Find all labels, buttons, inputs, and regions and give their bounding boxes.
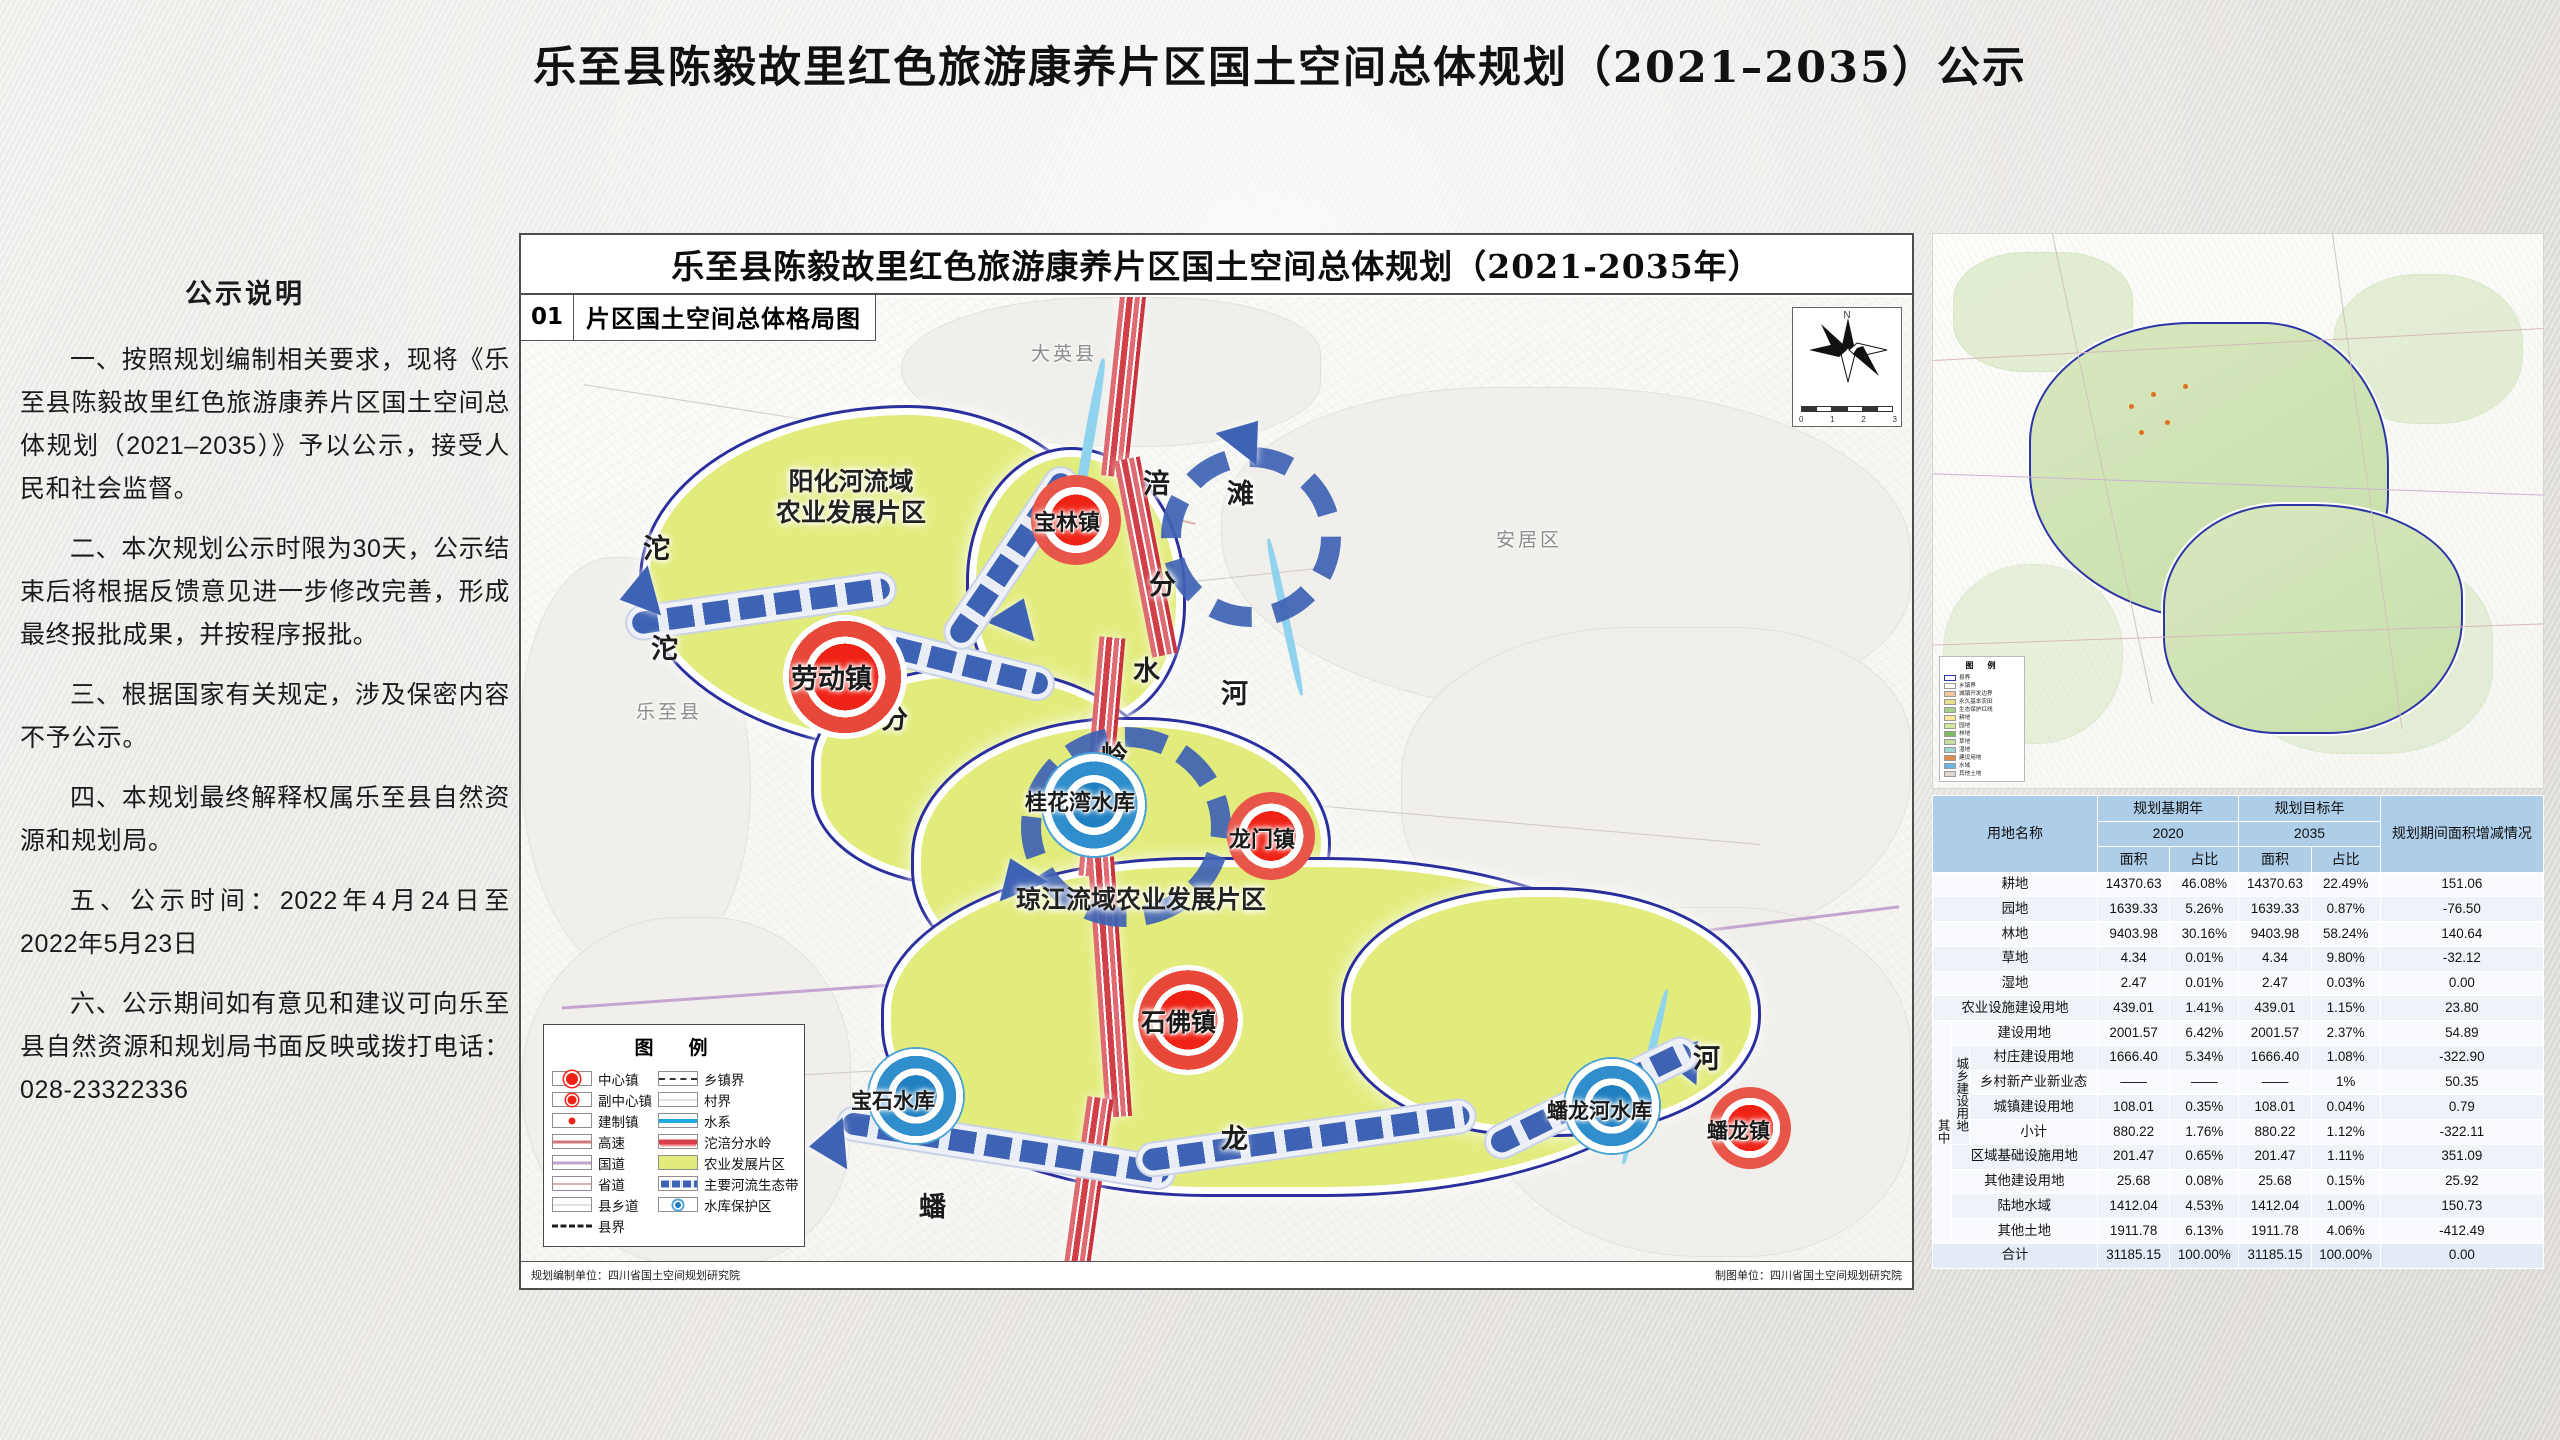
cell-ratio-2035: 2.37% bbox=[2311, 1021, 2380, 1046]
cell-delta: -322.90 bbox=[2380, 1045, 2543, 1070]
table-head: 用地名称 规划基期年 规划目标年 规划期间面积增减情况 2020 2035 面积… bbox=[1933, 796, 2544, 873]
watermark-char-shui: 水 bbox=[1133, 649, 1160, 688]
town-label-panlong: 蟠龙镇 bbox=[1707, 1115, 1770, 1145]
legend-label: 高速 bbox=[598, 1132, 625, 1152]
legend-item-expressway: 高速 bbox=[552, 1131, 652, 1152]
legend-label: 乡镇界 bbox=[704, 1069, 745, 1089]
scale-numbers: 0 1 2 3 bbox=[1799, 415, 1897, 424]
table-row-total: 合计 31185.15 100.00% 31185.15 100.00% 0.0… bbox=[1933, 1243, 2544, 1268]
cell-delta: 50.35 bbox=[2380, 1070, 2543, 1095]
cell-ratio-2020: 0.65% bbox=[2170, 1144, 2239, 1169]
table-row: 林地 9403.98 30.16% 9403.98 58.24% 140.64 bbox=[1933, 922, 2544, 947]
cell-ratio-2035: 0.15% bbox=[2311, 1169, 2380, 1194]
cell-area-2035: 1911.78 bbox=[2239, 1219, 2311, 1244]
cell-area-2035: 880.22 bbox=[2239, 1120, 2311, 1145]
table-row: 乡村新产业新业态 —— —— —— 1% 50.35 bbox=[1933, 1070, 2544, 1095]
row-name: 农业设施建设用地 bbox=[1933, 996, 2098, 1021]
cell-delta: 150.73 bbox=[2380, 1194, 2543, 1219]
watermark-char-he: 河 bbox=[1221, 672, 1248, 711]
cell-ratio-2020: 0.35% bbox=[2170, 1095, 2239, 1120]
cell-area-2035: 108.01 bbox=[2239, 1095, 2311, 1120]
cell-area-2035: 2.47 bbox=[2239, 971, 2311, 996]
table-row: 农业设施建设用地 439.01 1.41% 439.01 1.15% 23.80 bbox=[1933, 996, 2544, 1021]
legend-label: 省道 bbox=[598, 1174, 625, 1194]
cell-area-2020: 2.47 bbox=[2097, 971, 2169, 996]
index-legend-item: 乡镇界 bbox=[1944, 682, 2020, 690]
cell-area-2020: 4.34 bbox=[2097, 946, 2169, 971]
legend-item-county-road: 县乡道 bbox=[552, 1194, 652, 1215]
row-name: 小计 bbox=[1970, 1120, 2098, 1145]
cell-area-2020: 1911.78 bbox=[2097, 1219, 2169, 1244]
legend-item-watershed-divide: 沱涪分水岭 bbox=[658, 1131, 799, 1152]
cell-ratio-2020: 1.76% bbox=[2170, 1120, 2239, 1145]
index-legend-item: 耕地 bbox=[1944, 714, 2020, 722]
cell-area-2020: 1412.04 bbox=[2097, 1194, 2169, 1219]
header-area-2020: 面积 bbox=[2097, 847, 2169, 873]
cell-area-2020: 25.68 bbox=[2097, 1169, 2169, 1194]
cell-ratio-2020: —— bbox=[2170, 1070, 2239, 1095]
table-row: 城乡建设用地 村庄建设用地 1666.40 5.34% 1666.40 1.08… bbox=[1933, 1045, 2544, 1070]
map-footer: 规划编制单位：四川省国土空间规划研究院 制图单位：四川省国土空间规划研究院 bbox=[521, 1261, 1912, 1288]
legend-label: 水库保护区 bbox=[704, 1195, 772, 1215]
index-legend-item: 其他土地 bbox=[1944, 770, 2020, 778]
cell-delta: 54.89 bbox=[2380, 1021, 2543, 1046]
cell-ratio-2020: 5.26% bbox=[2170, 897, 2239, 922]
scale-tick-0: 0 bbox=[1799, 415, 1803, 424]
row-name: 耕地 bbox=[1933, 872, 2098, 897]
provincial-road-line-icon bbox=[552, 1176, 592, 1191]
row-name: 草地 bbox=[1933, 946, 2098, 971]
land-use-statistics-table: 用地名称 规划基期年 规划目标年 规划期间面积增减情况 2020 2035 面积… bbox=[1932, 795, 2544, 1269]
reservoir-label-baoshi: 宝石水库 bbox=[851, 1085, 935, 1115]
cell-delta: -322.11 bbox=[2380, 1120, 2543, 1145]
table-body: 耕地 14370.63 46.08% 14370.63 22.49% 151.0… bbox=[1933, 872, 2544, 1268]
legend-item-agriculture-zone: 农业发展片区 bbox=[658, 1152, 799, 1173]
cell-delta: 25.92 bbox=[2380, 1169, 2543, 1194]
header-ratio-2020: 占比 bbox=[2170, 847, 2239, 873]
notice-paragraph-6: 六、公示期间如有意见和建议可向乐至县自然资源和规划局书面反映或拨打电话：028-… bbox=[20, 983, 510, 1112]
cell-area-2020: 880.22 bbox=[2097, 1120, 2169, 1145]
cell-ratio-2035: 9.80% bbox=[2311, 946, 2380, 971]
town-label-laodong: 劳动镇 bbox=[791, 657, 872, 696]
reservoir-label-panlonghe: 蟠龙河水库 bbox=[1547, 1095, 1652, 1125]
notice-heading: 公示说明 bbox=[20, 272, 510, 311]
established-town-dot-icon bbox=[552, 1113, 592, 1128]
index-legend-item: 永久基本农田 bbox=[1944, 698, 2020, 706]
cell-area-2020: 108.01 bbox=[2097, 1095, 2169, 1120]
row-name: 林地 bbox=[1933, 922, 2098, 947]
map-sheet-number: 01 bbox=[521, 295, 574, 340]
notice-paragraph-3: 三、根据国家有关规定，涉及保密内容不予公示。 bbox=[20, 674, 510, 760]
cell-ratio-2035: 100.00% bbox=[2311, 1243, 2380, 1268]
cell-ratio-2035: 0.87% bbox=[2311, 897, 2380, 922]
township-boundary-line-icon bbox=[658, 1071, 698, 1086]
eco-belt-arrow-southwest bbox=[807, 1118, 847, 1173]
map-title: 乐至县陈毅故里红色旅游康养片区国土空间总体规划（2021-2035年） bbox=[671, 240, 1761, 288]
row-name: 城镇建设用地 bbox=[1970, 1095, 2098, 1120]
neighbor-label-anju: 安居区 bbox=[1496, 525, 1562, 552]
header-target-year-title: 规划目标年 bbox=[2239, 796, 2380, 822]
header-land-name: 用地名称 bbox=[1933, 796, 2098, 873]
row-name: 湿地 bbox=[1933, 971, 2098, 996]
row-name: 村庄建设用地 bbox=[1970, 1045, 2098, 1070]
index-town-dot bbox=[2151, 392, 2156, 397]
table-row: 城镇建设用地 108.01 0.35% 108.01 0.04% 0.79 bbox=[1933, 1095, 2544, 1120]
index-legend-item: 湿地 bbox=[1944, 746, 2020, 754]
table-row: 陆地水域 1412.04 4.53% 1412.04 1.00% 150.73 bbox=[1933, 1194, 2544, 1219]
legend-label: 建制镇 bbox=[598, 1111, 639, 1131]
index-map-legend: 图 例 县界 乡镇界 城镇开发边界 永久基本农田 生态保护红线 耕地 园地 林地… bbox=[1939, 656, 2025, 782]
legend-item-township-boundary: 乡镇界 bbox=[658, 1068, 799, 1089]
watermark-char-tuo2: 沱 bbox=[643, 527, 670, 566]
header-ratio-2035: 占比 bbox=[2311, 847, 2380, 873]
zone-label-yanghuahe: 阳化河流域 农业发展片区 bbox=[731, 467, 971, 530]
cell-ratio-2020: 5.34% bbox=[2170, 1045, 2239, 1070]
town-label-baolin: 宝林镇 bbox=[1034, 505, 1100, 537]
header-base-year: 2020 bbox=[2097, 821, 2238, 847]
cell-ratio-2035: 58.24% bbox=[2311, 922, 2380, 947]
township-boundary-swatch-icon bbox=[1944, 683, 1956, 689]
index-legend-item: 建设用地 bbox=[1944, 754, 2020, 762]
cell-area-2035: 4.34 bbox=[2239, 946, 2311, 971]
construction-land-swatch-icon bbox=[1944, 755, 1956, 761]
cell-ratio-2020: 6.42% bbox=[2170, 1021, 2239, 1046]
right-column: 图 例 县界 乡镇界 城镇开发边界 永久基本农田 生态保护红线 耕地 园地 林地… bbox=[1932, 233, 2544, 1269]
cell-ratio-2035: 0.03% bbox=[2311, 971, 2380, 996]
cell-delta: 151.06 bbox=[2380, 872, 2543, 897]
cell-area-2035: 439.01 bbox=[2239, 996, 2311, 1021]
cell-ratio-2035: 1.08% bbox=[2311, 1045, 2380, 1070]
cell-ratio-2020: 1.41% bbox=[2170, 996, 2239, 1021]
legend-item-reservoir-protection: 水库保护区 bbox=[658, 1194, 799, 1215]
cell-area-2020: 31185.15 bbox=[2097, 1243, 2169, 1268]
cell-delta: -412.49 bbox=[2380, 1219, 2543, 1244]
map-sheet-label: 片区国土空间总体格局图 bbox=[574, 295, 875, 340]
watermark-char-he2: 河 bbox=[1693, 1037, 1720, 1076]
cell-area-2035: 1666.40 bbox=[2239, 1045, 2311, 1070]
cell-delta: -32.12 bbox=[2380, 946, 2543, 971]
index-overview-map[interactable]: 图 例 县界 乡镇界 城镇开发边界 永久基本农田 生态保护红线 耕地 园地 林地… bbox=[1932, 233, 2544, 789]
cell-area-2020: 1666.40 bbox=[2097, 1045, 2169, 1070]
legend-label: 村界 bbox=[704, 1090, 731, 1110]
map-footer-left: 规划编制单位：四川省国土空间规划研究院 bbox=[531, 1267, 740, 1283]
cell-ratio-2020: 0.01% bbox=[2170, 971, 2239, 996]
legend-label: 主要河流生态带 bbox=[704, 1174, 799, 1194]
table-row: 草地 4.34 0.01% 4.34 9.80% -32.12 bbox=[1933, 946, 2544, 971]
index-legend-item: 水域 bbox=[1944, 762, 2020, 770]
main-map-panel[interactable]: 乐至县陈毅故里红色旅游康养片区国土空间总体规划（2021-2035年） 01 片… bbox=[519, 233, 1914, 1290]
cell-area-2035: 1412.04 bbox=[2239, 1194, 2311, 1219]
neighbor-label-lezhi: 乐至县 bbox=[636, 697, 702, 724]
cell-area-2020: 2001.57 bbox=[2097, 1021, 2169, 1046]
cell-area-2035: 1639.33 bbox=[2239, 897, 2311, 922]
row-name: 乡村新产业新业态 bbox=[1970, 1070, 2098, 1095]
notice-paragraph-5: 五、公示时间：2022年4月24日至2022年5月23日 bbox=[20, 880, 510, 966]
reservoir-label-guihuawan: 桂花湾水库 bbox=[1025, 785, 1135, 817]
map-canvas[interactable]: 大英县 安居区 乐至县 安岳县 bbox=[521, 297, 1912, 1265]
county-boundary-swatch-icon bbox=[1944, 675, 1956, 681]
wetland-swatch-icon bbox=[1944, 747, 1956, 753]
grassland-swatch-icon bbox=[1944, 739, 1956, 745]
watermark-char-fu: 涪 bbox=[1143, 462, 1170, 501]
row-name: 园地 bbox=[1933, 897, 2098, 922]
basic-farmland-swatch-icon bbox=[1944, 699, 1956, 705]
legend-label: 副中心镇 bbox=[598, 1090, 652, 1110]
notice-paragraph-1: 一、按照规划编制相关要求，现将《乐至县陈毅故里红色旅游康养片区国土空间总体规划（… bbox=[20, 339, 510, 511]
other-land-swatch-icon bbox=[1944, 771, 1956, 777]
agriculture-zone-swatch-icon bbox=[658, 1155, 698, 1170]
legend-item-provincial-road: 省道 bbox=[552, 1173, 652, 1194]
watermark-char-fen: 分 bbox=[1149, 563, 1176, 602]
row-name: 合计 bbox=[1933, 1243, 2098, 1268]
table-row: 小计 880.22 1.76% 880.22 1.12% -322.11 bbox=[1933, 1120, 2544, 1145]
map-legend-column-right: 乡镇界 村界 水系 沱涪分水岭 农业发展片区 bbox=[658, 1068, 799, 1236]
legend-item-county-boundary: 县界 bbox=[552, 1215, 652, 1236]
index-legend-item: 生态保护红线 bbox=[1944, 706, 2020, 714]
row-name: 建设用地 bbox=[1951, 1021, 2097, 1046]
cell-area-2035: 31185.15 bbox=[2239, 1243, 2311, 1268]
national-road-line-icon bbox=[552, 1155, 592, 1170]
index-county-boundary-south bbox=[2163, 504, 2463, 734]
watershed-divide-line-icon bbox=[658, 1134, 698, 1149]
scale-tick-3: 3 bbox=[1893, 415, 1897, 424]
legend-label: 水系 bbox=[704, 1111, 731, 1131]
compass-scale-box: N 0 1 2 3 bbox=[1792, 307, 1902, 427]
index-town-dot bbox=[2165, 420, 2170, 425]
table-row: 其他建设用地 25.68 0.08% 25.68 0.15% 25.92 bbox=[1933, 1169, 2544, 1194]
cell-delta: 23.80 bbox=[2380, 996, 2543, 1021]
urban-boundary-swatch-icon bbox=[1944, 691, 1956, 697]
cropland-swatch-icon bbox=[1944, 715, 1956, 721]
table-row: 其他土地 1911.78 6.13% 1911.78 4.06% -412.49 bbox=[1933, 1219, 2544, 1244]
row-name: 陆地水域 bbox=[1951, 1194, 2097, 1219]
legend-item-sub-center-town: 副中心镇 bbox=[552, 1089, 652, 1110]
cell-area-2035: —— bbox=[2239, 1070, 2311, 1095]
row-name: 区域基础设施用地 bbox=[1951, 1144, 2097, 1169]
scale-tick-2: 2 bbox=[1861, 415, 1865, 424]
legend-item-established-town: 建制镇 bbox=[552, 1110, 652, 1131]
map-legend-title: 图 例 bbox=[554, 1033, 796, 1060]
map-title-bar: 乐至县陈毅故里红色旅游康养片区国土空间总体规划（2021-2035年） bbox=[521, 235, 1912, 295]
cell-ratio-2020: 0.08% bbox=[2170, 1169, 2239, 1194]
cell-delta: 351.09 bbox=[2380, 1144, 2543, 1169]
page-title: 乐至县陈毅故里红色旅游康养片区国土空间总体规划（2021–2035）公示 bbox=[0, 33, 2560, 95]
cell-delta: 0.00 bbox=[2380, 971, 2543, 996]
notice-panel: 公示说明 一、按照规划编制相关要求，现将《乐至县陈毅故里红色旅游康养片区国土空间… bbox=[20, 272, 510, 1129]
index-town-dot bbox=[2183, 384, 2188, 389]
cell-delta: 140.64 bbox=[2380, 922, 2543, 947]
legend-label: 县乡道 bbox=[598, 1195, 639, 1215]
cell-ratio-2020: 6.13% bbox=[2170, 1219, 2239, 1244]
scale-bar bbox=[1801, 406, 1893, 412]
cell-ratio-2020: 100.00% bbox=[2170, 1243, 2239, 1268]
index-legend-item: 园地 bbox=[1944, 722, 2020, 730]
cell-ratio-2035: 4.06% bbox=[2311, 1219, 2380, 1244]
header-area-2035: 面积 bbox=[2239, 847, 2311, 873]
table-header-row-1: 用地名称 规划基期年 规划目标年 规划期间面积增减情况 bbox=[1933, 796, 2544, 822]
table-row: 湿地 2.47 0.01% 2.47 0.03% 0.00 bbox=[1933, 971, 2544, 996]
forest-swatch-icon bbox=[1944, 731, 1956, 737]
cell-ratio-2035: 0.04% bbox=[2311, 1095, 2380, 1120]
notice-paragraph-4: 四、本规划最终解释权属乐至县自然资源和规划局。 bbox=[20, 777, 510, 863]
group-label-chengxiang: 城乡建设用地 bbox=[1951, 1045, 1970, 1144]
cell-ratio-2020: 4.53% bbox=[2170, 1194, 2239, 1219]
water-system-line-icon bbox=[658, 1113, 698, 1128]
watermark-char-tuo: 沱 bbox=[651, 627, 678, 666]
town-label-longmen: 龙门镇 bbox=[1229, 822, 1295, 854]
legend-label: 国道 bbox=[598, 1153, 625, 1173]
index-legend-title: 图 例 bbox=[1944, 660, 2020, 672]
map-sheet-tag: 01 片区国土空间总体格局图 bbox=[521, 295, 876, 341]
watermark-char-pan: 蟠 bbox=[919, 1185, 946, 1224]
table-row: 区域基础设施用地 201.47 0.65% 201.47 1.11% 351.0… bbox=[1933, 1144, 2544, 1169]
cell-area-2020: 14370.63 bbox=[2097, 872, 2169, 897]
row-name: 其他土地 bbox=[1951, 1219, 2097, 1244]
sub-center-town-dot-icon bbox=[552, 1092, 592, 1107]
cell-ratio-2035: 1.15% bbox=[2311, 996, 2380, 1021]
cell-ratio-2035: 1.12% bbox=[2311, 1120, 2380, 1145]
cell-area-2020: —— bbox=[2097, 1070, 2169, 1095]
table-row: 其中 建设用地 2001.57 6.42% 2001.57 2.37% 54.8… bbox=[1933, 1021, 2544, 1046]
scale-tick-1: 1 bbox=[1830, 415, 1834, 424]
group-label-qizhong-outer: 其中 bbox=[1933, 1021, 1952, 1244]
index-legend-item: 县界 bbox=[1944, 674, 2020, 682]
legend-item-river-eco-belt: 主要河流生态带 bbox=[658, 1173, 799, 1194]
legend-item-national-road: 国道 bbox=[552, 1152, 652, 1173]
index-legend-item: 林地 bbox=[1944, 730, 2020, 738]
index-legend-item: 草地 bbox=[1944, 738, 2020, 746]
cell-area-2020: 439.01 bbox=[2097, 996, 2169, 1021]
cell-delta: 0.00 bbox=[2380, 1243, 2543, 1268]
cell-ratio-2020: 30.16% bbox=[2170, 922, 2239, 947]
index-town-dot bbox=[2139, 430, 2144, 435]
map-legend-column-left: 中心镇 副中心镇 建制镇 高速 国道 省 bbox=[552, 1068, 652, 1236]
eco-redline-swatch-icon bbox=[1944, 707, 1956, 713]
cell-ratio-2035: 1% bbox=[2311, 1070, 2380, 1095]
legend-label: 县界 bbox=[598, 1216, 625, 1236]
cell-area-2035: 14370.63 bbox=[2239, 872, 2311, 897]
table-row: 耕地 14370.63 46.08% 14370.63 22.49% 151.0… bbox=[1933, 872, 2544, 897]
cell-ratio-2035: 1.00% bbox=[2311, 1194, 2380, 1219]
legend-label: 沱涪分水岭 bbox=[704, 1132, 772, 1152]
header-delta: 规划期间面积增减情况 bbox=[2380, 796, 2543, 873]
river-eco-belt-icon bbox=[658, 1176, 698, 1191]
expressway-line-icon bbox=[552, 1134, 592, 1149]
legend-item-center-town: 中心镇 bbox=[552, 1068, 652, 1089]
map-footer-right: 制图单位：四川省国土空间规划研究院 bbox=[1715, 1267, 1902, 1283]
agriculture-zone-southeast bbox=[1351, 897, 1751, 1127]
cell-area-2020: 201.47 bbox=[2097, 1144, 2169, 1169]
orchard-swatch-icon bbox=[1944, 723, 1956, 729]
cell-area-2020: 1639.33 bbox=[2097, 897, 2169, 922]
cell-area-2020: 9403.98 bbox=[2097, 922, 2169, 947]
index-town-dot bbox=[2129, 404, 2134, 409]
legend-item-water-system: 水系 bbox=[658, 1110, 799, 1131]
cell-area-2035: 201.47 bbox=[2239, 1144, 2311, 1169]
reservoir-protection-dot-icon bbox=[658, 1197, 698, 1212]
village-boundary-line-icon bbox=[658, 1092, 698, 1107]
county-road-line-icon bbox=[552, 1197, 592, 1212]
header-base-year-title: 规划基期年 bbox=[2097, 796, 2238, 822]
water-swatch-icon bbox=[1944, 763, 1956, 769]
notice-paragraph-2: 二、本次规划公示时限为30天，公示结束后将根据反馈意见进一步修改完善，形成最终报… bbox=[20, 528, 510, 657]
cell-ratio-2020: 0.01% bbox=[2170, 946, 2239, 971]
cell-area-2035: 25.68 bbox=[2239, 1169, 2311, 1194]
header-target-year: 2035 bbox=[2239, 821, 2380, 847]
cell-ratio-2035: 22.49% bbox=[2311, 872, 2380, 897]
cell-ratio-2020: 46.08% bbox=[2170, 872, 2239, 897]
table-row: 园地 1639.33 5.26% 1639.33 0.87% -76.50 bbox=[1933, 897, 2544, 922]
legend-label: 中心镇 bbox=[598, 1069, 639, 1089]
watermark-char-tan: 滩 bbox=[1227, 472, 1254, 511]
center-town-dot-icon bbox=[552, 1071, 592, 1086]
index-legend-item: 城镇开发边界 bbox=[1944, 690, 2020, 698]
zone-label-qiongjiang: 琼江流域农业发展片区 bbox=[951, 885, 1331, 916]
legend-label: 农业发展片区 bbox=[704, 1153, 785, 1173]
cell-delta: -76.50 bbox=[2380, 897, 2543, 922]
cell-delta: 0.79 bbox=[2380, 1095, 2543, 1120]
compass-north-label: N bbox=[1793, 310, 1901, 321]
county-boundary-line-icon bbox=[552, 1218, 592, 1233]
neighbor-label-daying: 大英县 bbox=[1031, 339, 1097, 366]
map-legend: 图 例 中心镇 副中心镇 建制镇 高速 bbox=[543, 1024, 805, 1247]
legend-item-village-boundary: 村界 bbox=[658, 1089, 799, 1110]
cell-ratio-2035: 1.11% bbox=[2311, 1144, 2380, 1169]
watermark-char-long: 龙 bbox=[1221, 1117, 1248, 1156]
row-name: 其他建设用地 bbox=[1951, 1169, 2097, 1194]
cell-area-2035: 2001.57 bbox=[2239, 1021, 2311, 1046]
cell-area-2035: 9403.98 bbox=[2239, 922, 2311, 947]
town-label-shifo: 石佛镇 bbox=[1141, 1003, 1216, 1039]
